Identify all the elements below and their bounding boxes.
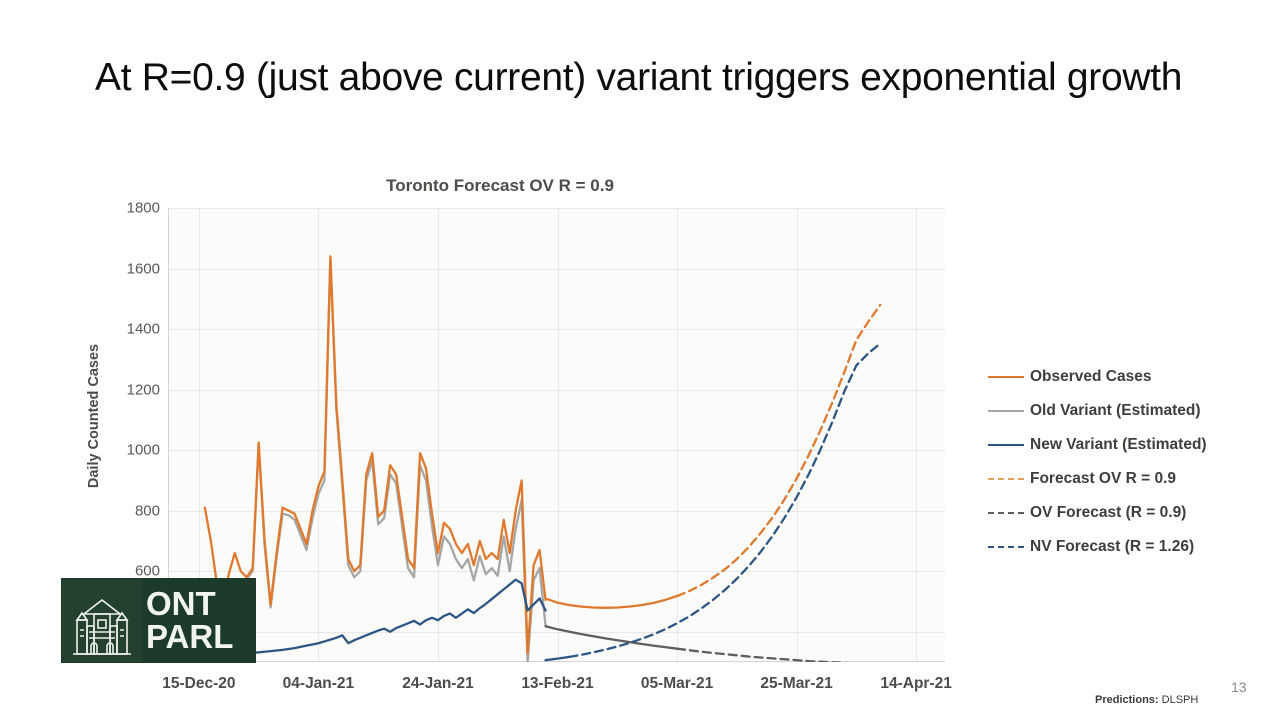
x-tick-label: 14-Apr-21 — [880, 675, 952, 693]
slide-number: 13 — [1231, 679, 1247, 695]
x-tick-label: 24-Jan-21 — [402, 675, 474, 693]
legend-item-label: New Variant (Estimated) — [1030, 436, 1207, 454]
series-forecast-ov-r-0-9-dashed — [677, 305, 880, 596]
logo-line-parl: PARL — [146, 621, 255, 653]
ont-parl-logo: ONT PARL — [61, 578, 256, 663]
y-tick-label: 1400 — [127, 321, 160, 338]
y-tick-label: 1200 — [127, 381, 160, 398]
y-tick-label: 800 — [135, 502, 160, 519]
logo-wordmark: ONT PARL — [142, 579, 255, 662]
legend-item[interactable]: Observed Cases — [988, 360, 1268, 394]
legend-swatch-icon — [988, 439, 1024, 451]
x-tick-label: 15-Dec-20 — [162, 675, 235, 693]
legend-swatch-icon — [988, 371, 1024, 383]
legend-item[interactable]: OV Forecast (R = 0.9) — [988, 496, 1268, 530]
series-old-variant-estimated — [247, 259, 546, 662]
x-tick-label: 05-Mar-21 — [641, 675, 713, 693]
chart-title: Toronto Forecast OV R = 0.9 — [60, 176, 940, 196]
legend-item-label: Observed Cases — [1030, 368, 1152, 386]
slide-root: At R=0.9 (just above current) variant tr… — [0, 0, 1280, 720]
legend-swatch-icon — [988, 473, 1024, 485]
legend-item-label: OV Forecast (R = 0.9) — [1030, 504, 1186, 522]
plot-area: 40060080010001200140016001800 15-Dec-200… — [168, 208, 945, 662]
legend-swatch-icon — [988, 405, 1024, 417]
legend-item[interactable]: Forecast OV R = 0.9 — [988, 462, 1268, 496]
predictions-source: DLSPH — [1162, 694, 1199, 706]
chart-legend: Observed CasesOld Variant (Estimated)New… — [988, 360, 1268, 564]
y-tick-label: 1800 — [127, 200, 160, 217]
series-forecast-ov-r-0-9-solid — [546, 596, 677, 608]
predictions-label: Predictions: — [1095, 694, 1159, 706]
legend-item-label: Forecast OV R = 0.9 — [1030, 470, 1176, 488]
legend-item[interactable]: NV Forecast (R = 1.26) — [988, 530, 1268, 564]
series-nv-forecast-r-1-26-dashed — [569, 344, 880, 657]
legend-item[interactable]: Old Variant (Estimated) — [988, 394, 1268, 428]
legend-swatch-icon — [988, 541, 1024, 553]
y-tick-label: 1000 — [127, 442, 160, 459]
series-ov-forecast-r-0-9-dashed — [677, 649, 880, 662]
logo-line-ont: ONT — [146, 588, 255, 620]
series-new-variant-estimated — [247, 580, 546, 653]
series-nv-forecast-r-1-26-solid — [546, 657, 570, 660]
chart-series-svg — [169, 208, 946, 662]
parliament-building-icon — [62, 579, 142, 662]
slide-title: At R=0.9 (just above current) variant tr… — [95, 52, 1200, 104]
predictions-credit: Predictions: DLSPH — [1095, 694, 1198, 706]
legend-item-label: Old Variant (Estimated) — [1030, 402, 1201, 420]
series-ov-forecast-r-0-9-solid — [546, 626, 677, 648]
x-tick-label: 13-Feb-21 — [521, 675, 593, 693]
legend-item-label: NV Forecast (R = 1.26) — [1030, 538, 1194, 556]
x-tick-label: 04-Jan-21 — [283, 675, 355, 693]
legend-item[interactable]: New Variant (Estimated) — [988, 428, 1268, 462]
y-tick-label: 1600 — [127, 260, 160, 277]
x-tick-label: 25-Mar-21 — [760, 675, 832, 693]
legend-swatch-icon — [988, 507, 1024, 519]
y-axis-title: Daily Counted Cases — [86, 306, 102, 526]
